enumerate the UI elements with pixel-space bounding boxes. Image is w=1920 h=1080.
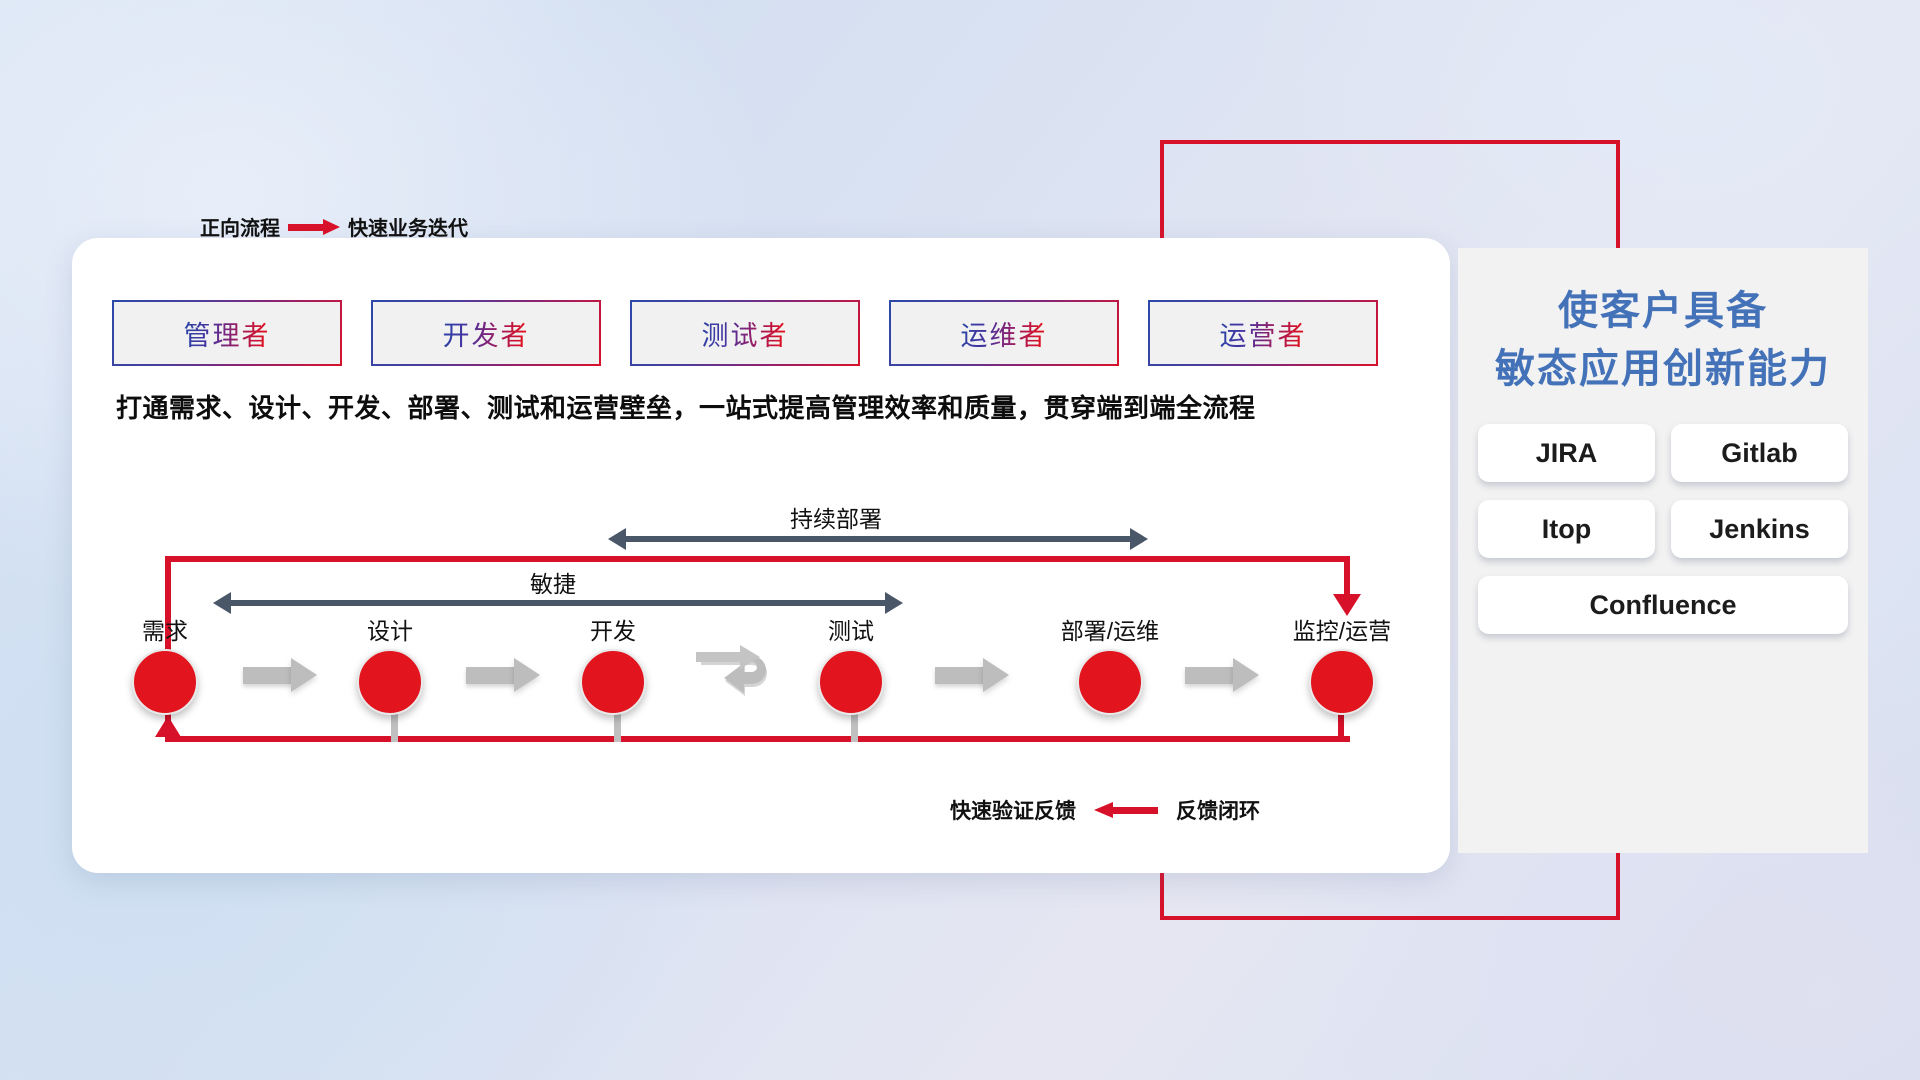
pipeline-stage-develop[interactable]: 开发	[576, 612, 650, 715]
feedback-loop-top-segment	[165, 556, 1350, 562]
pipeline-arrow-1-icon	[243, 658, 317, 692]
capability-panel: 使客户具备 敏态应用创新能力 JIRA Gitlab Itop Jenkins …	[1458, 248, 1868, 853]
stage-label: 开发	[576, 612, 650, 646]
role-box-operations[interactable]: 运营者	[1148, 300, 1378, 366]
stage-node-icon	[132, 649, 198, 715]
arrow-left-red-icon	[1094, 802, 1158, 818]
role-box-row: 管理者 开发者 测试者 运维者 运营者	[112, 300, 1378, 366]
forward-flow-annotation: 正向流程 快速业务迭代	[200, 212, 468, 241]
stage-label: 测试	[814, 612, 888, 646]
role-box-manager[interactable]: 管理者	[112, 300, 342, 366]
feedback-from-label: 快速验证反馈	[950, 795, 1076, 825]
role-box-ops[interactable]: 运维者	[889, 300, 1119, 366]
role-label: 测试者	[702, 314, 789, 353]
role-box-developer[interactable]: 开发者	[371, 300, 601, 366]
forward-flow-to-label: 快速业务迭代	[348, 212, 468, 241]
pipeline-stage-design[interactable]: 设计	[353, 612, 427, 715]
feedback-annotation: 快速验证反馈 反馈闭环	[950, 795, 1260, 825]
tool-button-jenkins[interactable]: Jenkins	[1671, 500, 1848, 558]
role-label: 管理者	[184, 314, 271, 353]
tool-button-itop[interactable]: Itop	[1478, 500, 1655, 558]
tool-button-gitlab[interactable]: Gitlab	[1671, 424, 1848, 482]
pipeline-arrow-2-icon	[466, 658, 540, 692]
description-text: 打通需求、设计、开发、部署、测试和运营壁垒，一站式提高管理效率和质量，贯穿端到端…	[116, 388, 1406, 425]
capability-heading-line-1: 使客户具备	[1458, 282, 1868, 340]
pipeline-stage-requirement[interactable]: 需求	[128, 612, 202, 715]
tool-button-grid: JIRA Gitlab Itop Jenkins Confluence	[1458, 424, 1868, 634]
pipeline-stage-test[interactable]: 测试	[814, 612, 888, 715]
tool-button-confluence[interactable]: Confluence	[1478, 576, 1848, 634]
pipeline-stage-monitor-operations[interactable]: 监控/运营	[1272, 612, 1412, 715]
continuous-deploy-arrow-icon	[608, 528, 1148, 550]
stage-node-icon	[1077, 649, 1143, 715]
tool-button-jira[interactable]: JIRA	[1478, 424, 1655, 482]
arrow-right-red-icon	[288, 219, 340, 235]
role-label: 运营者	[1220, 314, 1307, 353]
role-label: 开发者	[443, 314, 530, 353]
pipeline-stage-deploy-ops[interactable]: 部署/运维	[1040, 612, 1180, 715]
stage-node-icon	[357, 649, 423, 715]
pipeline-arrow-4-icon	[1185, 658, 1259, 692]
forward-flow-from-label: 正向流程	[200, 212, 280, 241]
stage-label: 设计	[353, 612, 427, 646]
stage-label: 部署/运维	[1040, 612, 1180, 646]
stage-node-icon	[818, 649, 884, 715]
agile-arrow-icon	[213, 592, 903, 614]
stage-label: 监控/运营	[1272, 612, 1412, 646]
pipeline-arrow-3-icon	[935, 658, 1009, 692]
role-label: 运维者	[961, 314, 1048, 353]
role-box-tester[interactable]: 测试者	[630, 300, 860, 366]
capability-heading-line-2: 敏态应用创新能力	[1458, 340, 1868, 398]
stage-node-icon	[1309, 649, 1375, 715]
stage-node-icon	[580, 649, 646, 715]
feedback-to-label: 反馈闭环	[1176, 795, 1260, 825]
iteration-loop-icon	[694, 642, 786, 700]
capability-heading: 使客户具备 敏态应用创新能力	[1458, 248, 1868, 398]
stage-label: 需求	[128, 612, 202, 646]
